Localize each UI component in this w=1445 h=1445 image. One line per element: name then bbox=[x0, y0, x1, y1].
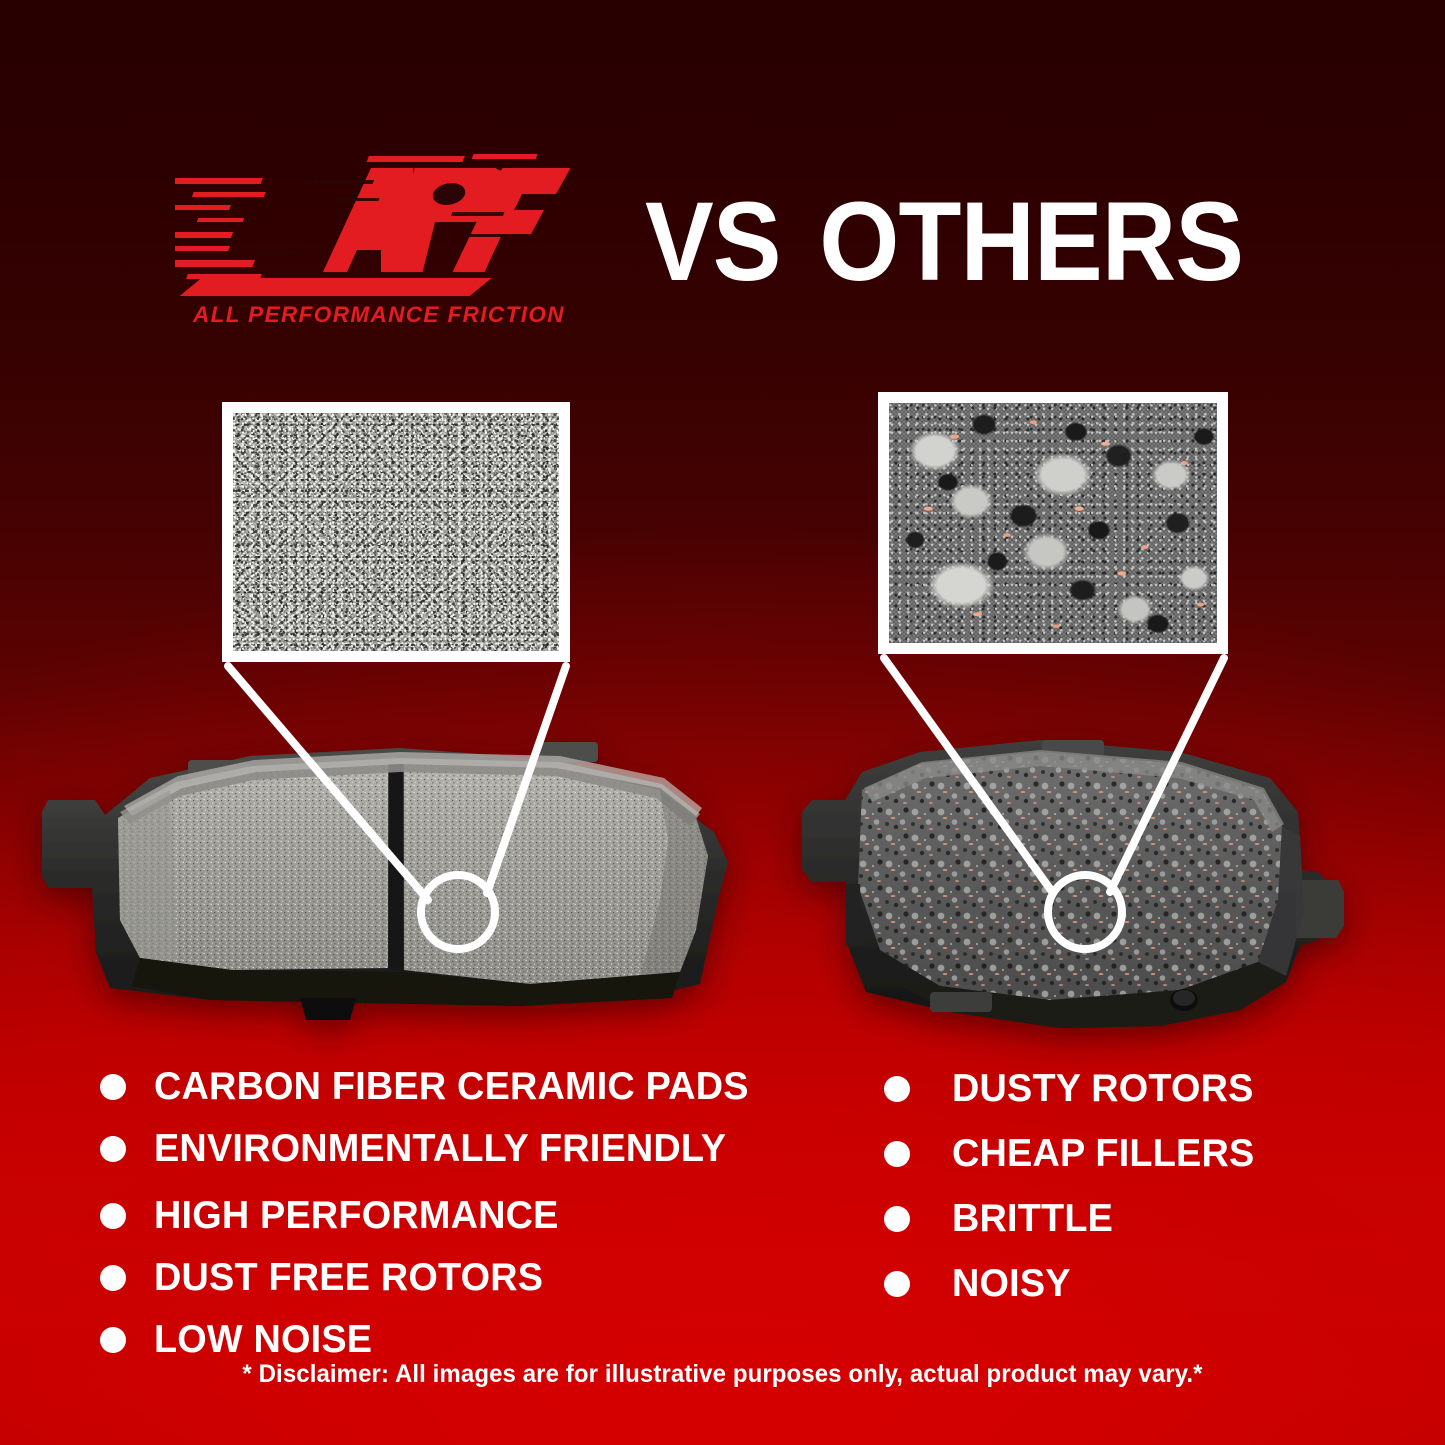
list-item: DUST FREE ROTORS bbox=[100, 1247, 800, 1309]
bullet-dot-icon bbox=[884, 1206, 910, 1232]
bullet-dot-icon bbox=[100, 1265, 126, 1291]
list-item-label: ENVIRONMENTALLY FRIENDLY bbox=[154, 1127, 726, 1171]
bullet-dot-icon bbox=[100, 1074, 126, 1100]
list-item: DUSTY ROTORS bbox=[884, 1056, 1304, 1121]
list-item: CARBON FIBER CERAMIC PADS bbox=[100, 1056, 800, 1118]
bullet-dot-icon bbox=[100, 1327, 126, 1353]
list-item: HIGH PERFORMANCE bbox=[100, 1185, 800, 1247]
list-item-label: CARBON FIBER CERAMIC PADS bbox=[154, 1065, 749, 1109]
promo-canvas: ALL PERFORMANCE FRICTION VSOTHERS bbox=[0, 0, 1445, 1445]
list-item-label: DUST FREE ROTORS bbox=[154, 1256, 543, 1300]
apf-brake-pad bbox=[42, 742, 728, 1020]
list-item-label: DUSTY ROTORS bbox=[952, 1067, 1254, 1111]
list-item: BRITTLE bbox=[884, 1186, 1304, 1251]
list-item-label: BRITTLE bbox=[952, 1197, 1113, 1241]
list-item-label: LOW NOISE bbox=[154, 1318, 372, 1362]
list-item-label: HIGH PERFORMANCE bbox=[154, 1194, 559, 1238]
list-item: ENVIRONMENTALLY FRIENDLY bbox=[100, 1118, 800, 1180]
bullet-dot-icon bbox=[100, 1203, 126, 1229]
bullet-dot-icon bbox=[884, 1076, 910, 1102]
list-item: NOISY bbox=[884, 1251, 1304, 1316]
bullet-dot-icon bbox=[884, 1271, 910, 1297]
bullet-dot-icon bbox=[100, 1136, 126, 1162]
others-feature-list: DUSTY ROTORS CHEAP FILLERS BRITTLE NOISY bbox=[884, 1056, 1304, 1316]
apf-feature-list: CARBON FIBER CERAMIC PADS ENVIRONMENTALL… bbox=[100, 1056, 800, 1371]
list-item: CHEAP FILLERS bbox=[884, 1121, 1304, 1186]
list-item-label: CHEAP FILLERS bbox=[952, 1132, 1254, 1176]
disclaimer-text: * Disclaimer: All images are for illustr… bbox=[29, 1360, 1416, 1389]
bullet-dot-icon bbox=[884, 1141, 910, 1167]
others-brake-pad bbox=[802, 740, 1344, 1028]
list-item-label: NOISY bbox=[952, 1262, 1071, 1306]
